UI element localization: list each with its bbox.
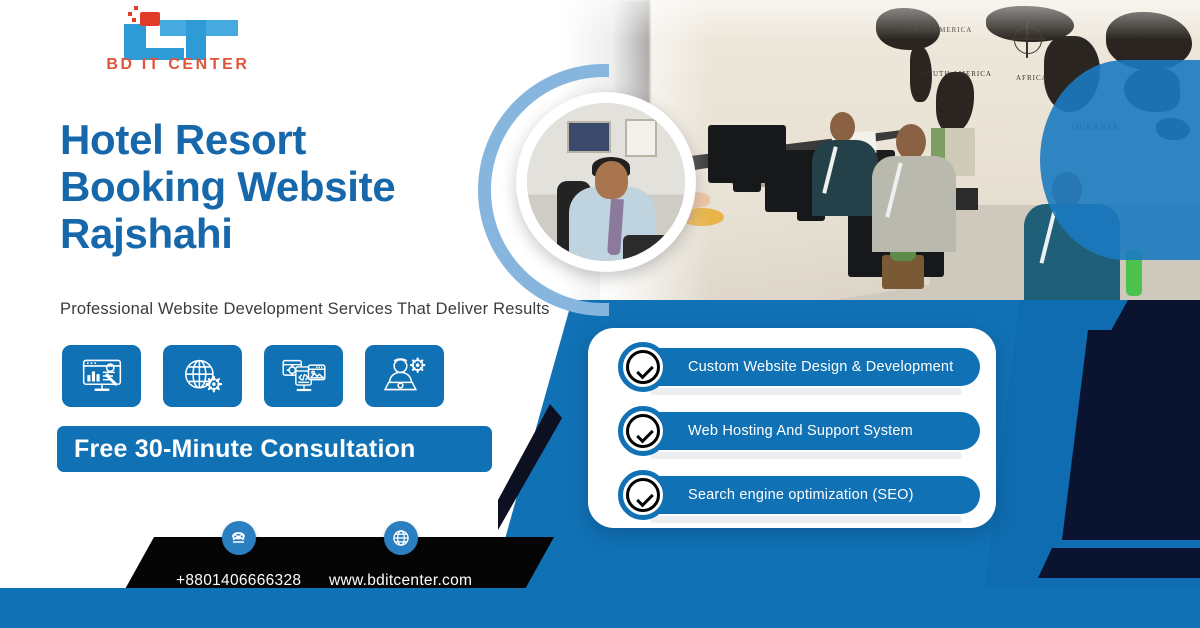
- pill-shadow: [650, 452, 962, 459]
- contact-website[interactable]: www.bditcenter.com: [329, 521, 472, 590]
- check-circle-icon: [618, 342, 668, 392]
- pill-shadow: [650, 388, 962, 395]
- consultation-cta-button[interactable]: Free 30-Minute Consultation: [57, 426, 492, 472]
- web-development-icon[interactable]: [264, 345, 343, 407]
- brand-name: BD IT CENTER: [88, 56, 268, 74]
- avatar: [527, 103, 685, 261]
- globe-icon: [384, 521, 418, 555]
- phone-number: +8801406666328: [176, 572, 301, 590]
- lt-monogram-logo: [110, 14, 250, 58]
- decor-navy-stripe: [1038, 548, 1200, 578]
- decor-blue-blob: [1040, 60, 1200, 260]
- website-url: www.bditcenter.com: [329, 572, 472, 590]
- telephone-icon: [222, 521, 256, 555]
- support-agent-icon[interactable]: [365, 345, 444, 407]
- map-label: SOUTH AMERICA: [922, 70, 992, 78]
- promo-banner: NORTH AMERICA SOUTH AMERICA AFRICA OCEAN…: [0, 0, 1200, 628]
- list-item[interactable]: Search engine optimization (SEO): [604, 470, 980, 526]
- feature-label: Web Hosting And Support System: [632, 412, 980, 450]
- map-label: AFRICA: [1016, 74, 1048, 82]
- pill-shadow: [650, 516, 962, 523]
- list-item[interactable]: Custom Website Design & Development: [604, 342, 980, 398]
- feature-label: Search engine optimization (SEO): [632, 476, 980, 514]
- analytics-maintenance-icon[interactable]: [62, 345, 141, 407]
- check-circle-icon: [618, 406, 668, 456]
- feature-label: Custom Website Design & Development: [632, 348, 980, 386]
- feature-list-card: Custom Website Design & Development Web …: [588, 328, 996, 528]
- bottom-blue-strip: [0, 588, 1200, 628]
- service-icon-row: [62, 345, 444, 407]
- page-title: Hotel Resort Booking Website Rajshahi: [60, 116, 480, 257]
- list-item[interactable]: Web Hosting And Support System: [604, 406, 980, 462]
- global-settings-icon[interactable]: [163, 345, 242, 407]
- check-circle-icon: [618, 470, 668, 520]
- brand-logo[interactable]: BD IT CENTER: [88, 6, 268, 78]
- page-subtitle: Professional Website Development Service…: [60, 300, 560, 319]
- contact-phone[interactable]: +8801406666328: [176, 521, 301, 590]
